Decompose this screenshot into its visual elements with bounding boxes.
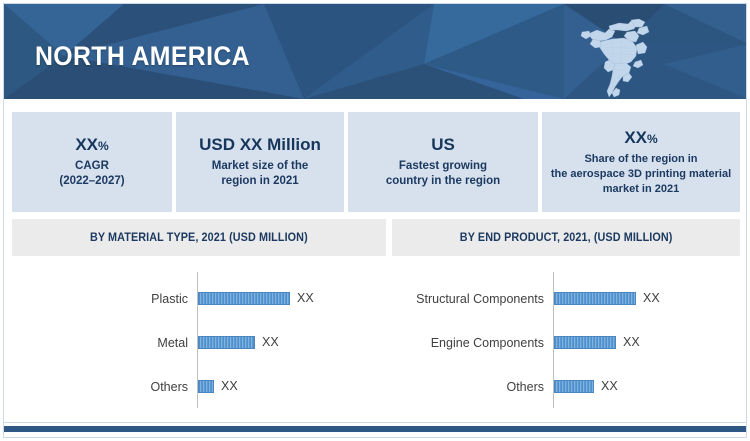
stat-value-unit: % bbox=[98, 139, 109, 153]
bar-value-label: XX bbox=[623, 336, 640, 349]
bar-value-label: XX bbox=[601, 380, 618, 393]
bar-category-label: Others bbox=[12, 374, 188, 400]
stat-desc-line: market in 2021 bbox=[551, 182, 731, 197]
stat-desc-line: Fastest growing bbox=[386, 159, 500, 174]
stat-desc-line: region in 2021 bbox=[212, 174, 309, 189]
stat-desc-line: (2022–2027) bbox=[59, 174, 124, 189]
footer-bar bbox=[4, 426, 747, 432]
bar-value-label: XX bbox=[262, 336, 279, 349]
chart-bar-row: Others XX bbox=[392, 374, 740, 400]
stat-description: CAGR (2022–2027) bbox=[54, 159, 129, 189]
stat-card-cagr: XX% CAGR (2022–2027) bbox=[12, 112, 172, 212]
stat-desc-line: CAGR bbox=[59, 159, 124, 174]
stat-desc-line: the aerospace 3D printing material bbox=[551, 167, 731, 182]
stat-value: XX% bbox=[75, 135, 108, 156]
stat-value: US bbox=[431, 135, 455, 156]
section-title: BY END PRODUCT, 2021, (USD MILLION) bbox=[460, 232, 673, 244]
region-banner: NORTH AMERICA bbox=[4, 4, 747, 99]
stat-desc-line: Market size of the bbox=[212, 159, 309, 174]
stat-value-number: US bbox=[431, 135, 455, 154]
bar bbox=[554, 380, 594, 393]
infographic-frame: NORTH AMERICA bbox=[3, 3, 747, 438]
stat-value: USD XX Million bbox=[199, 135, 321, 156]
stat-card-market-size: USD XX Million Market size of the region… bbox=[176, 112, 344, 212]
section-header-end-product: BY END PRODUCT, 2021, (USD MILLION) bbox=[392, 219, 740, 256]
page-title: NORTH AMERICA bbox=[35, 41, 250, 72]
stat-desc-line: Share of the region in bbox=[551, 152, 731, 167]
bar bbox=[198, 336, 255, 349]
infographic-page: NORTH AMERICA bbox=[0, 0, 750, 441]
stat-value-number: USD XX Million bbox=[199, 135, 321, 154]
chart-bar-row: Structural Components XX bbox=[392, 286, 740, 312]
bar-value-label: XX bbox=[221, 380, 238, 393]
stat-card-region-share: XX% Share of the region in the aerospace… bbox=[542, 112, 740, 212]
bar-value-label: XX bbox=[297, 292, 314, 305]
north-america-map-icon bbox=[579, 18, 657, 98]
bar-category-label: Others bbox=[392, 374, 544, 400]
chart-by-end-product: Structural Components XX Engine Componen… bbox=[392, 266, 740, 406]
stat-value-number: XX bbox=[75, 135, 98, 154]
stat-description: Market size of the region in 2021 bbox=[207, 159, 314, 189]
section-header-material-type: BY MATERIAL TYPE, 2021 (USD MILLION) bbox=[12, 219, 386, 256]
chart-bar-row: Others XX bbox=[12, 374, 386, 400]
bar bbox=[554, 336, 616, 349]
stat-description: Share of the region in the aerospace 3D … bbox=[546, 152, 736, 197]
bar-value-label: XX bbox=[643, 292, 660, 305]
stat-card-fastest-country: US Fastest growing country in the region bbox=[348, 112, 538, 212]
stat-value-number: XX bbox=[624, 128, 647, 147]
section-title: BY MATERIAL TYPE, 2021 (USD MILLION) bbox=[90, 232, 308, 244]
footer-divider bbox=[4, 422, 747, 423]
chart-bar-row: Plastic XX bbox=[12, 286, 386, 312]
stat-value-unit: % bbox=[647, 132, 658, 146]
bar-category-label: Plastic bbox=[12, 286, 188, 312]
bar bbox=[198, 380, 214, 393]
chart-by-material-type: Plastic XX Metal XX Others XX bbox=[12, 266, 386, 406]
bar bbox=[554, 292, 636, 305]
bar-category-label: Structural Components bbox=[392, 286, 544, 312]
bar-category-label: Engine Components bbox=[392, 330, 544, 356]
chart-bar-row: Metal XX bbox=[12, 330, 386, 356]
stat-desc-line: country in the region bbox=[386, 174, 500, 189]
bar bbox=[198, 292, 290, 305]
stat-cards-row: XX% CAGR (2022–2027) USD XX Million Mark… bbox=[4, 112, 747, 212]
bar-category-label: Metal bbox=[12, 330, 188, 356]
chart-bar-row: Engine Components XX bbox=[392, 330, 740, 356]
stat-value: XX% bbox=[624, 128, 657, 149]
stat-description: Fastest growing country in the region bbox=[381, 159, 505, 189]
